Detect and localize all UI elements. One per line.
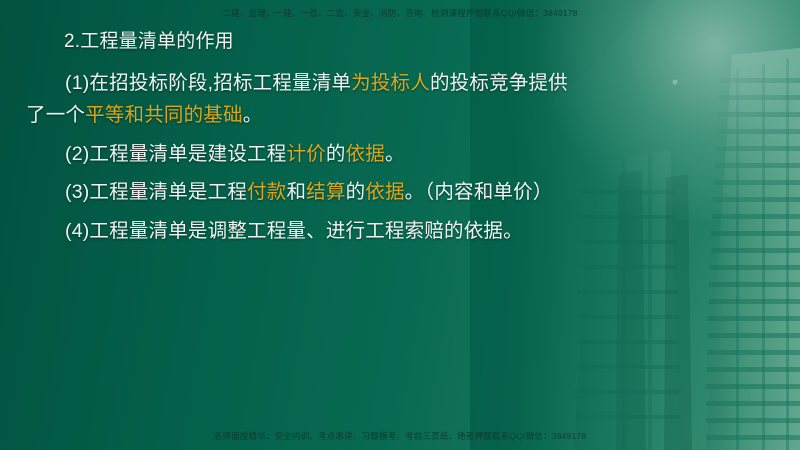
item4-text: (4)工程量清单是调整工程量、进行工程索赔的依据。 [65, 220, 523, 242]
list-item-2: (2)工程量清单是建设工程计价的依据。 [26, 138, 586, 171]
item3-highlight-3: 依据 [365, 181, 404, 203]
watermark-bottom: 名师面授精华、安全内训、考点串讲、习题模考、考前三页纸、绝密押题联系QQ/微信：… [0, 430, 800, 443]
item2-tail: 。 [385, 143, 405, 165]
section-heading-text: 2.工程量清单的作用 [64, 31, 234, 52]
item3-tail: 。（内容和单价） [405, 181, 553, 203]
item3-mid-2: 的 [346, 181, 366, 203]
slide-body: 2.工程量清单的作用 (1)在招投标阶段,招标工程量清单为投标人的投标竞争提供了… [26, 26, 586, 247]
item1-highlight-2: 平等和共同的基础 [85, 104, 243, 126]
item3-highlight-2: 结算 [306, 181, 345, 203]
item3-mid-1: 和 [286, 181, 306, 203]
item1-highlight-1: 为投标人 [351, 72, 430, 94]
item1-tail: 。 [243, 104, 263, 126]
item2-highlight-2: 依据 [346, 143, 385, 165]
list-item-3: (3)工程量清单是工程付款和结算的依据。（内容和单价） [26, 176, 586, 209]
section-heading: 2.工程量清单的作用 [26, 26, 586, 59]
presentation-slide: 二建、监理、一建、一造、二造、安全、消防、咨询、检测课程押题联系QQ/微信：38… [0, 0, 800, 450]
item2-mid: 的 [326, 143, 346, 165]
item1-lead: (1)在招投标阶段,招标工程量清单 [65, 72, 351, 94]
item3-highlight-1: 付款 [247, 181, 286, 203]
item2-highlight-1: 计价 [286, 143, 325, 165]
list-item-1: (1)在招投标阶段,招标工程量清单为投标人的投标竞争提供了一个平等和共同的基础。 [26, 67, 586, 132]
item2-lead: (2)工程量清单是建设工程 [65, 143, 286, 165]
list-item-4: (4)工程量清单是调整工程量、进行工程索赔的依据。 [26, 215, 586, 248]
watermark-top: 二建、监理、一建、一造、二造、安全、消防、咨询、检测课程押题联系QQ/微信：38… [0, 7, 800, 20]
item3-lead: (3)工程量清单是工程 [65, 181, 247, 203]
